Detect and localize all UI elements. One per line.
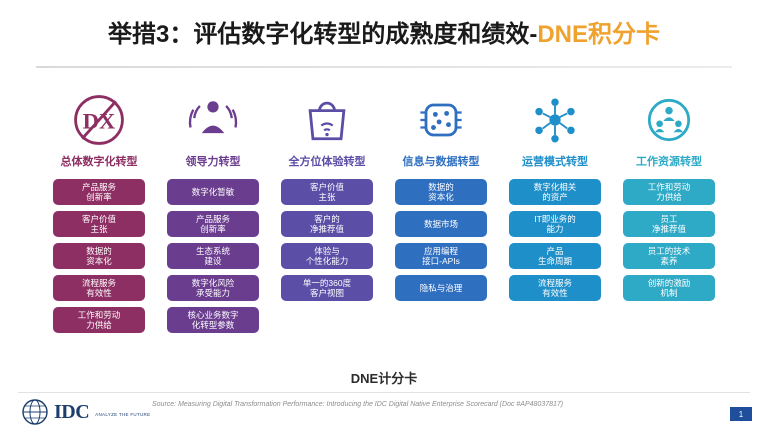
leadership-person-icon	[183, 88, 243, 152]
metric-chip-line: 资本化	[86, 256, 112, 266]
page-title: 举措3：评估数字化转型的成熟度和绩效-DNE积分卡	[0, 14, 768, 49]
metric-chip-line: 的资产	[534, 192, 577, 202]
metric-chip-line: 产品服务	[196, 214, 230, 224]
metric-chip-line: 主张	[310, 192, 344, 202]
metric-chip[interactable]: 客户价值主张	[281, 179, 373, 205]
metric-chip[interactable]: 流程服务有效性	[53, 275, 145, 301]
metric-chip-line: 流程服务	[82, 278, 116, 288]
metric-chip[interactable]: 产品服务创新率	[167, 211, 259, 237]
metric-chip[interactable]: 员工的技术素养	[623, 243, 715, 269]
page-title-main: 举措3：评估数字化转型的成熟度和绩效-	[108, 21, 537, 48]
metric-chip[interactable]: IT即业务的能力	[509, 211, 601, 237]
column-heading: 领导力转型	[186, 156, 241, 172]
metric-chip-line: 能力	[534, 224, 576, 234]
page-title-accent: DNE积分卡	[537, 21, 660, 48]
metric-chip-line: 有效性	[538, 288, 572, 298]
metric-chip-line: 数字化风险	[192, 278, 235, 288]
metric-chip[interactable]: 应用编程接口-APIs	[395, 243, 487, 269]
column-heading: 全方位体验转型	[289, 156, 366, 172]
metric-chip-line: 客户的	[310, 214, 344, 224]
people-circle-icon	[639, 88, 699, 152]
metric-chip-line: 力供给	[78, 320, 121, 330]
dne-scorecard-label: DNE计分卡	[0, 368, 768, 387]
metric-chip[interactable]: 数据的资本化	[53, 243, 145, 269]
metric-chip[interactable]: 工作和劳动力供给	[53, 307, 145, 333]
column-heading: 运营模式转型	[522, 156, 588, 172]
metric-chip[interactable]: 客户的净推荐值	[281, 211, 373, 237]
column-leadership-transformation: 领导力转型数字化暂敏产品服务创新率生态系统建设数字化风险承受能力核心业务数字化转…	[160, 88, 266, 368]
metric-chip-line: 净推荐值	[310, 224, 344, 234]
column-overall-digital-transformation: DX 总体数字化转型产品服务创新率客户价值主张数据的资本化流程服务有效性工作和劳…	[46, 88, 152, 368]
column-information-data-transformation: 信息与数据转型数据的资本化数据市场应用编程接口-APIs隐私与治理	[388, 88, 494, 368]
metric-chip-line: 员工	[652, 214, 686, 224]
column-operating-model-transformation: 运营模式转型数字化相关的资产IT即业务的能力产品生命周期流程服务有效性	[502, 88, 608, 368]
metric-chip-line: 数据的	[86, 246, 112, 256]
metric-chip-line: 素养	[648, 256, 691, 266]
metric-chip-line: 数据市场	[424, 219, 458, 229]
metric-chip-line: 承受能力	[192, 288, 235, 298]
metric-chip[interactable]: 员工净推荐值	[623, 211, 715, 237]
metric-chip-line: 数字化暂敏	[192, 187, 235, 197]
metric-chip-line: 个性化能力	[306, 256, 349, 266]
metric-chip-line: 数字化相关	[534, 182, 577, 192]
metric-chip-line: 机制	[648, 288, 691, 298]
metric-chip-line: 接口-APIs	[422, 256, 460, 266]
idc-globe-icon	[22, 399, 48, 425]
metric-chip-line: 生态系统	[196, 246, 230, 256]
metric-chip[interactable]: 数据市场	[395, 211, 487, 237]
metric-chip-line: 化转型参数	[187, 320, 238, 330]
metric-chip-line: 主张	[82, 224, 116, 234]
metric-chip-line: 创新率	[82, 192, 116, 202]
metric-chip[interactable]: 数字化暂敏	[167, 179, 259, 205]
metric-chip-line: 体验与	[306, 246, 349, 256]
metric-chip-line: 资本化	[428, 192, 454, 202]
metric-chip[interactable]: 体验与个性化能力	[281, 243, 373, 269]
metric-chip-line: 数据的	[428, 182, 454, 192]
column-omni-experience-transformation: 全方位体验转型客户价值主张客户的净推荐值体验与个性化能力单一的360度客户视图	[274, 88, 380, 368]
metric-chip-line: 客户价值	[82, 214, 116, 224]
metric-chip[interactable]: 客户价值主张	[53, 211, 145, 237]
metric-chip[interactable]: 流程服务有效性	[509, 275, 601, 301]
column-heading: 工作资源转型	[636, 156, 702, 172]
metric-chip-line: 核心业务数字	[187, 310, 238, 320]
shopping-bag-wifi-icon	[297, 88, 357, 152]
metric-chip-line: 客户价值	[310, 182, 344, 192]
page-number: 1	[730, 407, 752, 421]
column-worksource-transformation: 工作资源转型工作和劳动力供给员工净推荐值员工的技术素养创新的激励机制	[616, 88, 722, 368]
metric-chip-line: 建设	[196, 256, 230, 266]
metric-chip-line: 工作和劳动	[78, 310, 121, 320]
metric-chip[interactable]: 生态系统建设	[167, 243, 259, 269]
metric-chip-line: 单一的360度	[303, 278, 351, 288]
metric-chip-line: 创新率	[196, 224, 230, 234]
metric-chip-line: 创新的激励	[648, 278, 691, 288]
metric-chip[interactable]: 数字化风险承受能力	[167, 275, 259, 301]
metric-chip[interactable]: 创新的激励机制	[623, 275, 715, 301]
dx-circle-icon: DX	[69, 88, 129, 152]
transformation-columns: DX 总体数字化转型产品服务创新率客户价值主张数据的资本化流程服务有效性工作和劳…	[46, 88, 722, 368]
network-nodes-icon	[525, 88, 585, 152]
idc-logo-text: IDC	[54, 401, 89, 424]
column-heading: 总体数字化转型	[61, 156, 138, 172]
metric-chip-line: 生命周期	[538, 256, 572, 266]
metric-chip-line: 隐私与治理	[420, 283, 463, 293]
column-heading: 信息与数据转型	[403, 156, 480, 172]
metric-chip[interactable]: 单一的360度客户视图	[281, 275, 373, 301]
idc-logo: IDC ANALYZE THE FUTURE	[22, 399, 150, 425]
metric-chip[interactable]: 隐私与治理	[395, 275, 487, 301]
metric-chip-line: 有效性	[82, 288, 116, 298]
metric-chip[interactable]: 产品生命周期	[509, 243, 601, 269]
title-divider	[36, 66, 732, 68]
metric-chip[interactable]: 数据的资本化	[395, 179, 487, 205]
footer-divider	[18, 392, 750, 393]
metric-chip-line: 产品	[538, 246, 572, 256]
metric-chip-line: 工作和劳动	[648, 182, 691, 192]
metric-chip-line: 产品服务	[82, 182, 116, 192]
slide-root: 举措3：评估数字化转型的成熟度和绩效-DNE积分卡 DX 总体数字化转型产品服务…	[0, 0, 768, 432]
metric-chip[interactable]: 产品服务创新率	[53, 179, 145, 205]
metric-chip-line: 员工的技术	[648, 246, 691, 256]
metric-chip-line: IT即业务的	[534, 214, 576, 224]
metric-chip[interactable]: 工作和劳动力供给	[623, 179, 715, 205]
source-note: Source: Measuring Digital Transformation…	[152, 400, 622, 410]
metric-chip-line: 净推荐值	[652, 224, 686, 234]
metric-chip-line: 流程服务	[538, 278, 572, 288]
metric-chip[interactable]: 数字化相关的资产	[509, 179, 601, 205]
metric-chip-line: 力供给	[648, 192, 691, 202]
idc-logo-tagline: ANALYZE THE FUTURE	[95, 406, 150, 418]
metric-chip-line: 应用编程	[422, 246, 460, 256]
metric-chip-line: 客户视图	[303, 288, 351, 298]
metric-chip[interactable]: 核心业务数字化转型参数	[167, 307, 259, 333]
data-chip-icon	[411, 88, 471, 152]
